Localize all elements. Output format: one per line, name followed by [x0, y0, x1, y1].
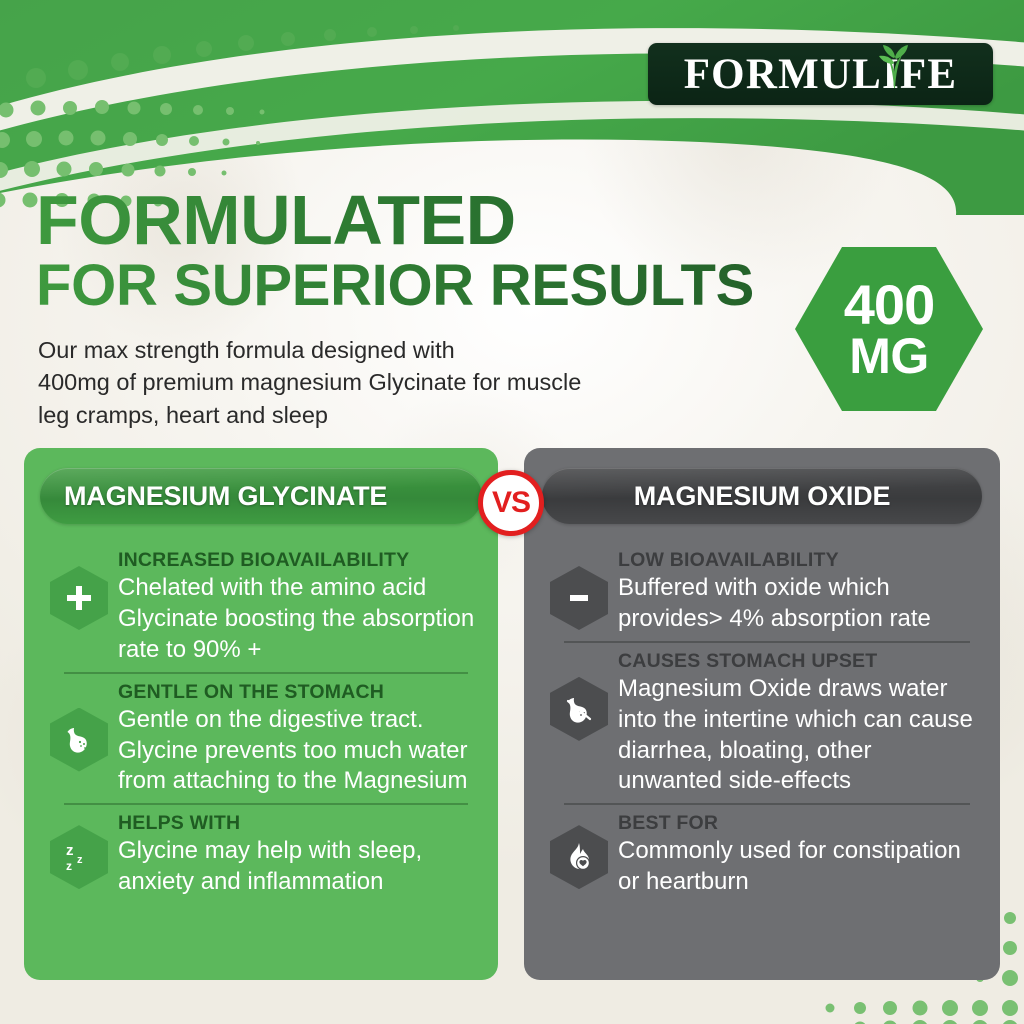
infographic-poster: FORMULIFE FORMULATED FOR SUPERIOR RESULT… [0, 0, 1024, 1024]
stomach-upset-icon [550, 677, 608, 741]
subcopy-line-1: Our max strength formula designed with [38, 334, 738, 366]
sleep-zzz-icon: z z z [50, 825, 108, 889]
feature-row: BEST FOR Commonly used for constipation … [540, 803, 984, 904]
stomach-icon [50, 708, 108, 772]
card-left-title: MAGNESIUM GLYCINATE [64, 481, 387, 512]
feature-title: BEST FOR [618, 811, 980, 835]
feature-row: z z z HELPS WITH Glycine may help with s… [40, 803, 482, 904]
subcopy-block: Our max strength formula designed with 4… [38, 334, 738, 431]
feature-body: Magnesium Oxide draws water into the int… [618, 674, 980, 797]
feature-row: INCREASED BIOAVAILABILITY Chelated with … [40, 540, 482, 672]
svg-text:z: z [77, 854, 83, 866]
leaf-sprout-icon [877, 44, 911, 88]
card-magnesium-glycinate: MAGNESIUM GLYCINATE INCREASED BIOAVAILAB… [24, 448, 498, 980]
dose-unit: MG [849, 333, 929, 379]
headline-line-2: FOR SUPERIOR RESULTS [36, 258, 796, 313]
vs-badge: VS [478, 470, 544, 536]
minus-icon [550, 566, 608, 630]
feature-row: GENTLE ON THE STOMACH Gentle on the dige… [40, 672, 482, 804]
plus-icon [50, 566, 108, 630]
feature-text: CAUSES STOMACH UPSET Magnesium Oxide dra… [618, 649, 984, 797]
subcopy-line-3: leg cramps, heart and sleep [38, 399, 738, 431]
headline-line-1: FORMULATED [36, 188, 796, 252]
feature-row: LOW BIOAVAILABILITY Buffered with oxide … [540, 540, 984, 641]
feature-body: Glycine may help with sleep, anxiety and… [118, 836, 478, 897]
card-left-title-pill: MAGNESIUM GLYCINATE [40, 468, 482, 524]
feature-row: CAUSES STOMACH UPSET Magnesium Oxide dra… [540, 641, 984, 803]
dose-amount: 400 [844, 279, 934, 331]
feature-body: Chelated with the amino acid Glycinate b… [118, 573, 478, 665]
dose-badge-label: 400 MG [795, 247, 983, 411]
feature-text: INCREASED BIOAVAILABILITY Chelated with … [118, 548, 482, 666]
brand-logo-label: FORMULIFE [684, 51, 958, 98]
feature-body: Commonly used for constipation or heartb… [618, 836, 980, 897]
svg-text:z: z [66, 859, 72, 873]
feature-body: Buffered with oxide which provides> 4% a… [618, 573, 980, 634]
feature-title: GENTLE ON THE STOMACH [118, 680, 478, 704]
brand-logo-text: FORMULIFE [684, 53, 958, 96]
card-magnesium-oxide: MAGNESIUM OXIDE LOW BIOAVAILABILITY Buff… [524, 448, 1000, 980]
svg-text:z: z [66, 842, 74, 859]
feature-title: CAUSES STOMACH UPSET [618, 649, 980, 673]
card-left-features: INCREASED BIOAVAILABILITY Chelated with … [24, 540, 498, 980]
vs-badge-label: VS [492, 488, 530, 518]
flame-heart-icon [550, 825, 608, 889]
card-right-features: LOW BIOAVAILABILITY Buffered with oxide … [524, 540, 1000, 980]
feature-text: GENTLE ON THE STOMACH Gentle on the dige… [118, 680, 482, 798]
feature-text: HELPS WITH Glycine may help with sleep, … [118, 811, 482, 898]
card-right-title-pill: MAGNESIUM OXIDE [542, 468, 982, 524]
brand-logo[interactable]: FORMULIFE [648, 43, 993, 105]
feature-body: Gentle on the digestive tract. Glycine p… [118, 705, 478, 797]
headline-block: FORMULATED FOR SUPERIOR RESULTS [36, 188, 796, 313]
card-right-title: MAGNESIUM OXIDE [634, 481, 891, 512]
feature-title: LOW BIOAVAILABILITY [618, 548, 980, 572]
subcopy-line-2: 400mg of premium magnesium Glycinate for… [38, 366, 738, 398]
feature-text: LOW BIOAVAILABILITY Buffered with oxide … [618, 548, 984, 635]
feature-title: HELPS WITH [118, 811, 478, 835]
feature-title: INCREASED BIOAVAILABILITY [118, 548, 478, 572]
feature-text: BEST FOR Commonly used for constipation … [618, 811, 984, 898]
dose-badge-hexagon: 400 MG [795, 247, 983, 411]
